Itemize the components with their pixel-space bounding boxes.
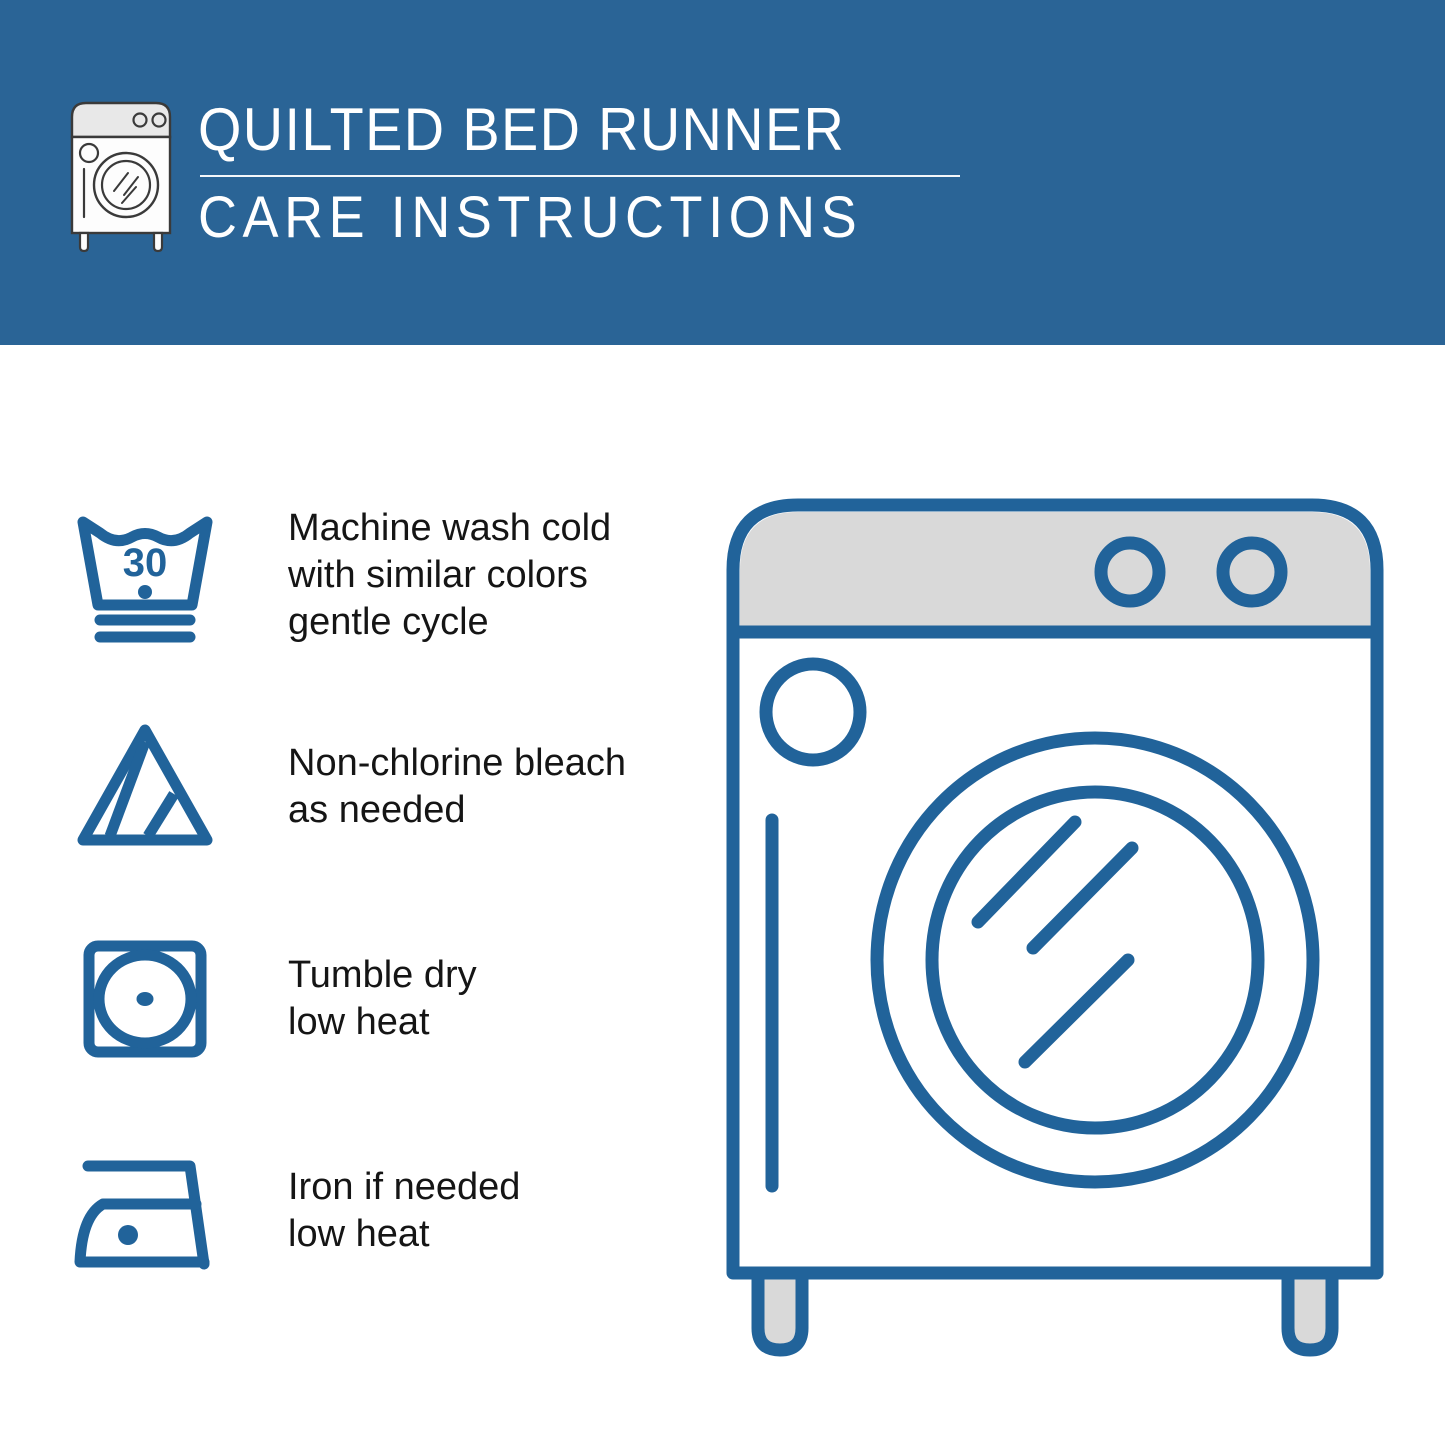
wash-tub-30-icon: 30 — [70, 495, 230, 655]
header-title-block: QUILTED BED RUNNER CARE INSTRUCTIONS — [198, 95, 960, 249]
drum-inner-ring — [932, 792, 1258, 1128]
care-instructions-page: QUILTED BED RUNNER CARE INSTRUCTIONS 30 — [0, 0, 1445, 1445]
washing-machine-illustration — [700, 470, 1410, 1370]
care-text-iron: Iron if needed low heat — [288, 1164, 520, 1258]
page-header: QUILTED BED RUNNER CARE INSTRUCTIONS — [0, 0, 1445, 345]
care-line: Machine wash cold — [288, 505, 611, 552]
machine-legs — [758, 1270, 1332, 1350]
page-subtitle: CARE INSTRUCTIONS — [198, 187, 907, 249]
care-line: Non-chlorine bleach — [288, 740, 626, 787]
title-divider — [200, 175, 960, 177]
care-line: Iron if needed — [288, 1164, 520, 1211]
washing-machine-icon — [62, 95, 180, 255]
tumble-dry-icon — [70, 919, 230, 1079]
dispenser-dial — [766, 664, 860, 760]
wash-temp-label: 30 — [123, 541, 168, 585]
care-line: low heat — [288, 1211, 520, 1258]
knob-left — [1101, 543, 1159, 601]
page-title: QUILTED BED RUNNER — [198, 97, 907, 163]
care-row-tumble-dry: Tumble dry low heat — [70, 914, 630, 1084]
care-line: low heat — [288, 999, 477, 1046]
care-text-wash: Machine wash cold with similar colors ge… — [288, 505, 611, 646]
care-line: Tumble dry — [288, 952, 477, 999]
care-text-tumble-dry: Tumble dry low heat — [288, 952, 477, 1046]
care-line: with similar colors — [288, 552, 611, 599]
care-line: gentle cycle — [288, 599, 611, 646]
care-row-bleach: Non-chlorine bleach as needed — [70, 702, 630, 872]
care-line: as needed — [288, 787, 626, 834]
bleach-triangle-icon — [70, 707, 230, 867]
care-instruction-list: 30 Machine wash cold with similar colors… — [70, 490, 630, 1338]
care-text-bleach: Non-chlorine bleach as needed — [288, 740, 626, 834]
care-row-iron: Iron if needed low heat — [70, 1126, 630, 1296]
header-content: QUILTED BED RUNNER CARE INSTRUCTIONS — [62, 95, 960, 255]
care-row-wash: 30 Machine wash cold with similar colors… — [70, 490, 630, 660]
knob-right — [1223, 543, 1281, 601]
iron-icon — [70, 1131, 230, 1291]
